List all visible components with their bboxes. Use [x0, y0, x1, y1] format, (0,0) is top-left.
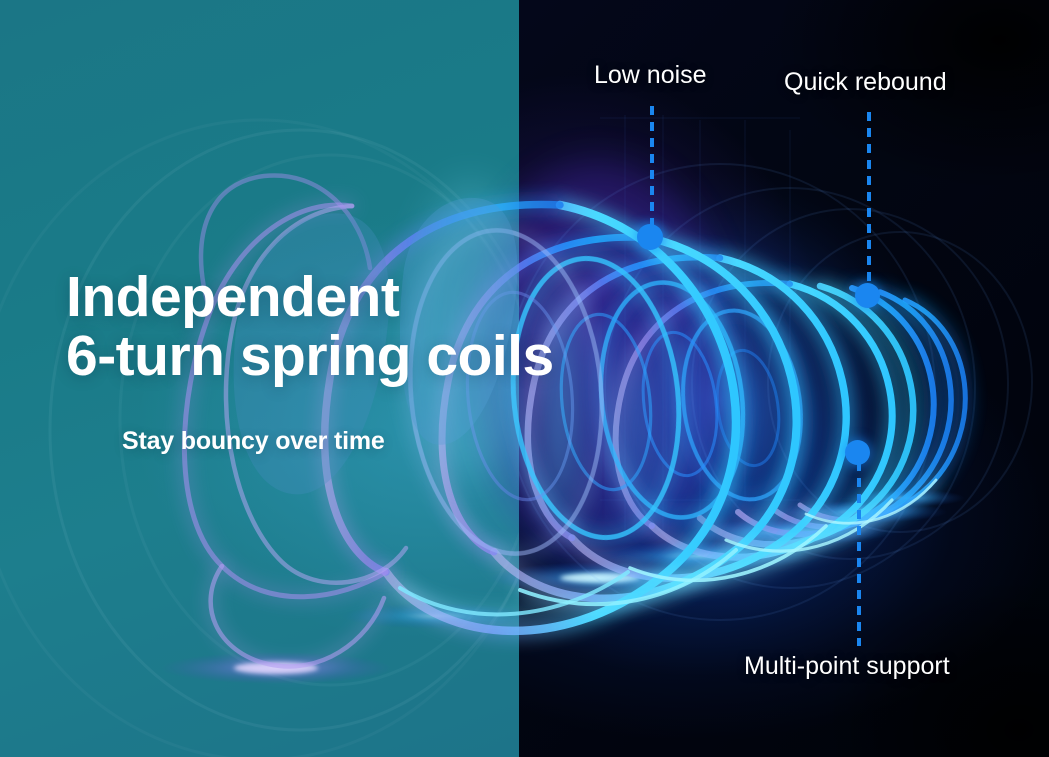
page-subtitle: Stay bouncy over time [122, 427, 385, 456]
callout-dot-multi-point-support [845, 440, 870, 465]
leader-line-low-noise [650, 106, 654, 234]
callout-dot-quick-rebound [855, 283, 880, 308]
page-title: Independent 6-turn spring coils [66, 268, 554, 387]
leader-line-multi-point-support [857, 462, 861, 646]
right-dark-panel [519, 0, 1049, 757]
callout-label-quick-rebound: Quick rebound [784, 68, 947, 97]
leader-line-quick-rebound [867, 112, 871, 288]
product-feature-banner: Low noise Quick rebound Multi-point supp… [0, 0, 1049, 757]
callout-label-multi-point-support: Multi-point support [744, 652, 950, 681]
callout-label-low-noise: Low noise [594, 61, 707, 90]
callout-dot-low-noise [637, 224, 663, 250]
